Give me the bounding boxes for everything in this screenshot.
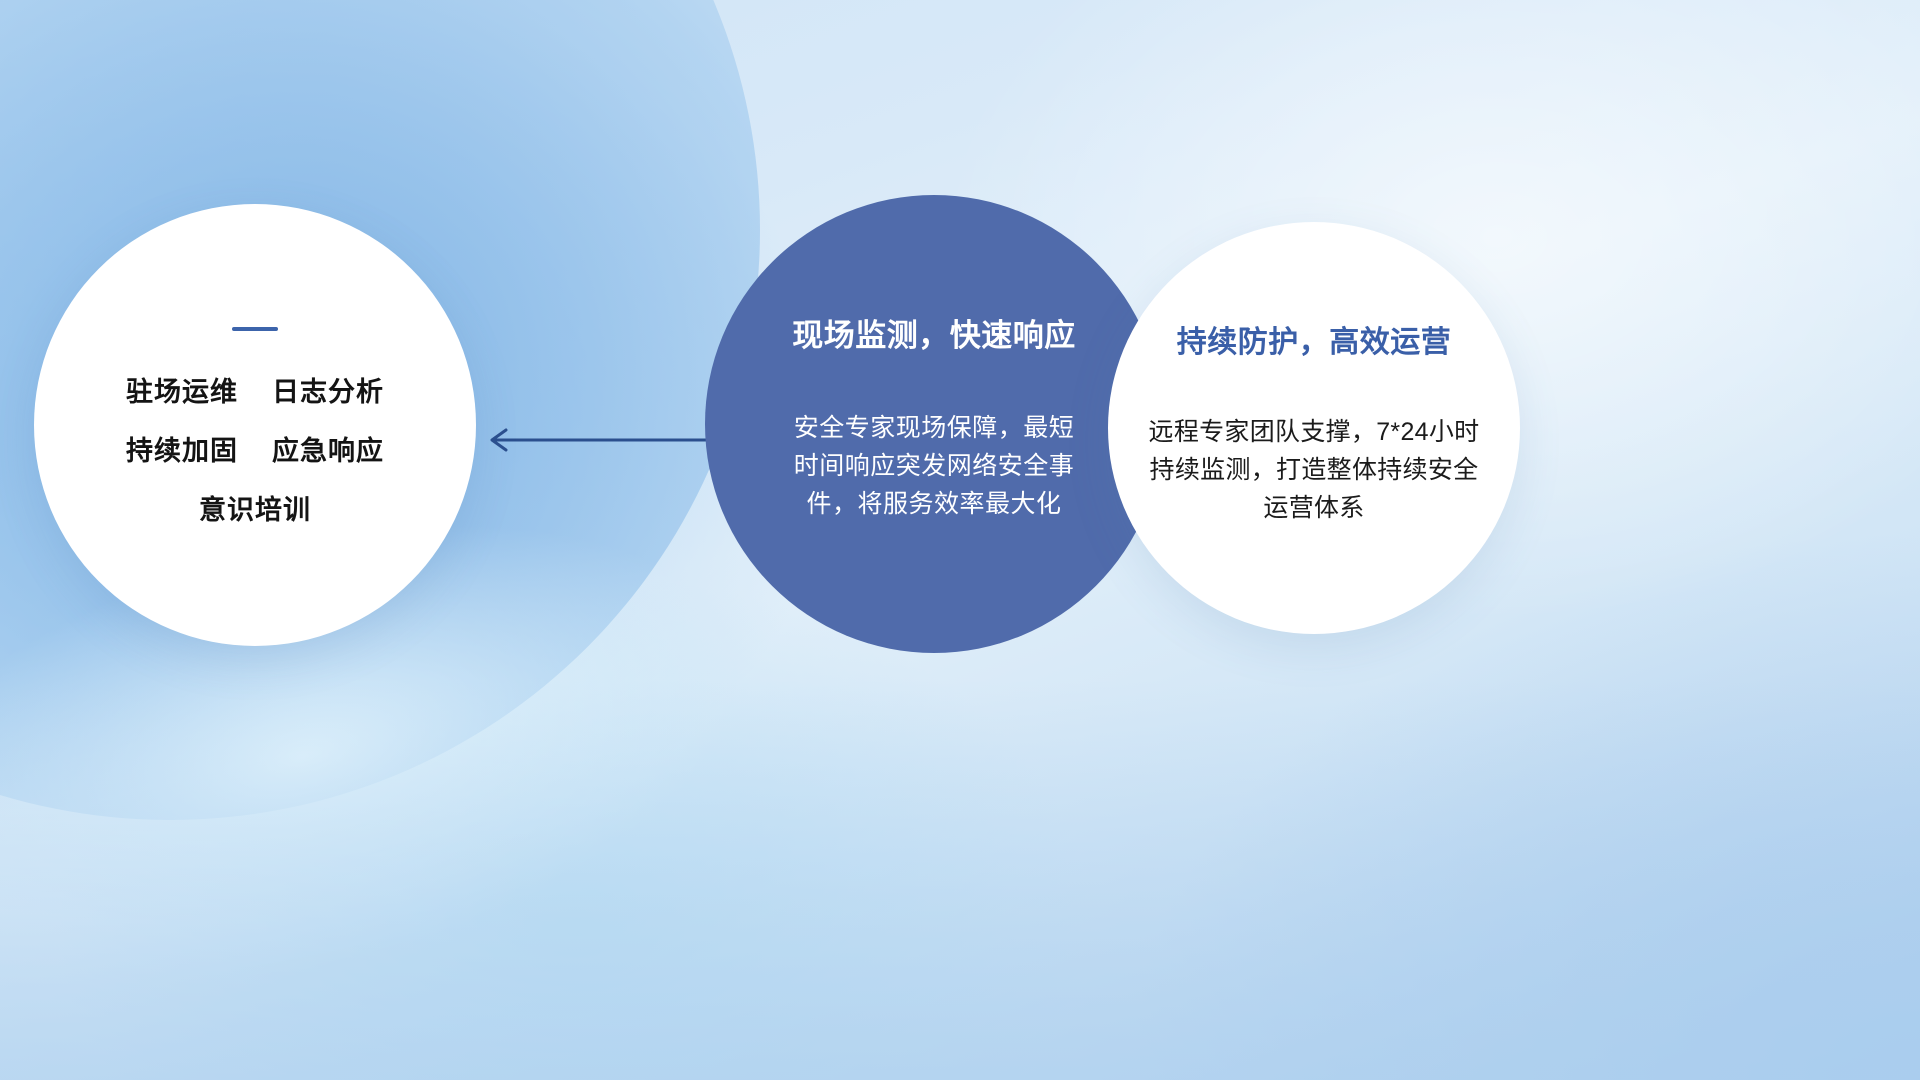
circle-title: 现场监测，快速响应: [792, 317, 1076, 354]
slide-canvas: 驻场运维 日志分析 持续加固 应急响应 意识培训 现场监测，快速响应 安全专家现…: [0, 0, 1920, 1080]
circle-title: 持续防护，高效运营: [1177, 325, 1452, 361]
keyword-line: 意识培训: [199, 497, 311, 524]
leftward-arrow-icon: [480, 410, 730, 470]
circle-body-text: 远程专家团队支撑，7*24小时持续监测，打造整体持续安全运营体系: [1139, 413, 1489, 527]
keyword-line: 持续加固 应急响应: [126, 438, 384, 465]
capability-keywords-circle[interactable]: 驻场运维 日志分析 持续加固 应急响应 意识培训: [34, 204, 476, 646]
onsite-monitoring-circle[interactable]: 现场监测，快速响应 安全专家现场保障，最短时间响应突发网络安全事件，将服务效率最…: [705, 195, 1163, 653]
keyword-line: 驻场运维 日志分析: [126, 379, 384, 406]
background-bottom-haze: [0, 680, 1920, 1080]
continuous-protection-circle[interactable]: 持续防护，高效运营 远程专家团队支撑，7*24小时持续监测，打造整体持续安全运营…: [1108, 222, 1520, 634]
divider-dash: [232, 327, 278, 331]
circle-body-text: 安全专家现场保障，最短时间响应突发网络安全事件，将服务效率最大化: [784, 409, 1084, 523]
